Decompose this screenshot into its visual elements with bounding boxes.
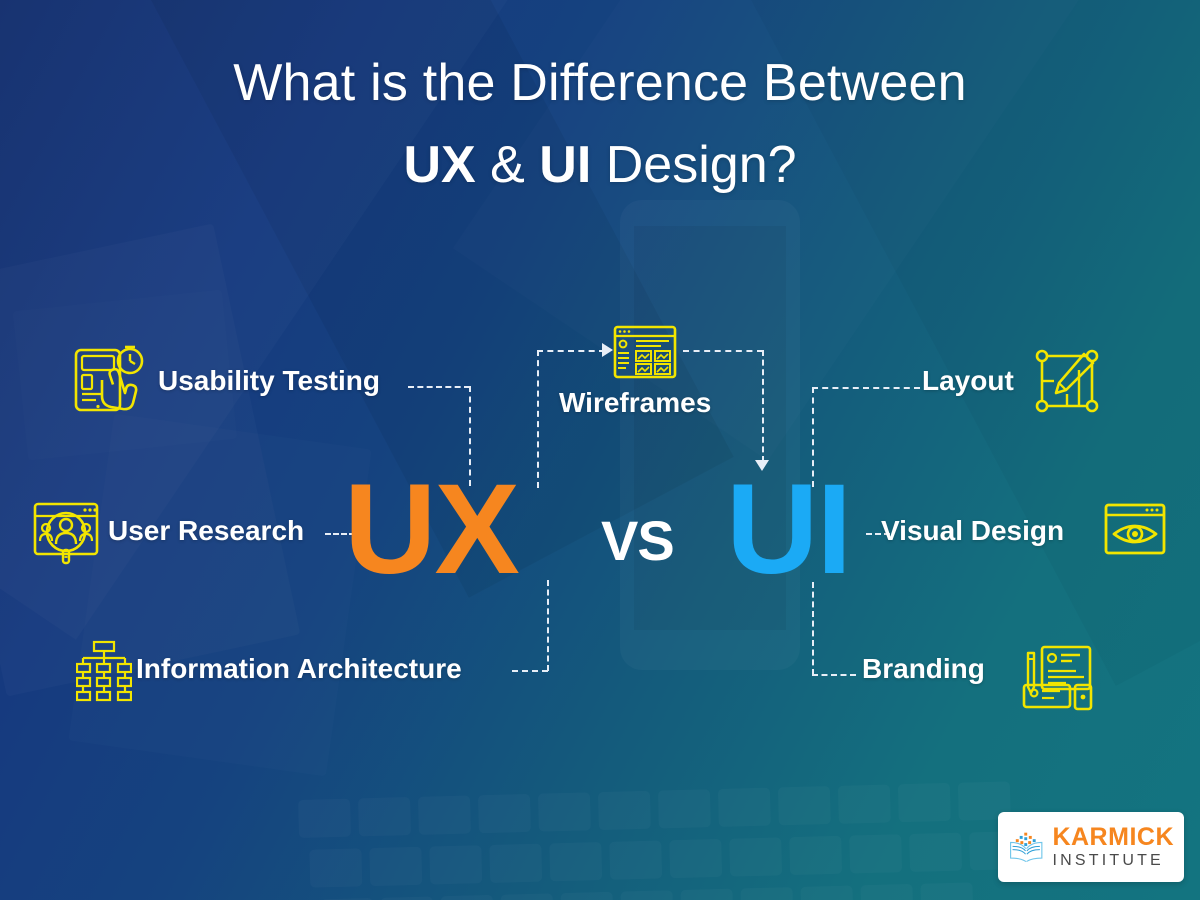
usability-testing-icon-wrap [72,344,148,414]
karmick-institute-logo[interactable]: KARMICK INSTITUTE [998,812,1184,882]
sitemap-hierarchy-icon [76,640,132,702]
user-research-icon-wrap [32,500,104,570]
branding-icon-wrap [1022,641,1094,711]
label-layout: Layout [922,365,1014,397]
browser-wireframe-layout-icon [613,325,677,379]
label-wireframes: Wireframes [559,387,711,419]
background-keyboard [298,780,1062,900]
visual-design-icon-wrap [1104,503,1166,555]
label-visual-design: Visual Design [881,515,1064,547]
tablet-hand-stopwatch-icon [72,344,148,414]
browser-eye-icon [1104,503,1166,555]
browser-people-magnifier-icon [32,500,104,570]
infographic-canvas: What is the Difference Between UX & UI D… [0,0,1200,900]
title-ampersand: & [490,136,525,194]
information-architecture-icon-wrap [76,640,132,702]
logo-subtitle: INSTITUTE [1052,853,1174,869]
ui-headline: UI [726,466,850,594]
label-branding: Branding [862,653,985,685]
logo-name: KARMICK [1052,825,1174,850]
vs-headline: VS [601,508,674,573]
label-user-research: User Research [108,515,304,547]
label-usability-testing: Usability Testing [158,365,380,397]
title-ux: UX [403,136,475,194]
open-book-pixels-logo-icon [1008,823,1044,871]
stationery-card-pen-icon [1022,641,1094,711]
wireframes-icon-wrap [613,325,677,379]
ux-headline: UX [344,466,518,594]
title-line-1: What is the Difference Between [0,54,1200,112]
page-title: What is the Difference Between UX & UI D… [0,54,1200,194]
title-line-2: UX & UI Design? [0,136,1200,194]
title-tail: Design? [606,136,797,194]
layout-icon-wrap [1034,348,1100,414]
label-information-architecture: Information Architecture [136,653,462,685]
pencil-grid-layout-icon [1034,348,1100,414]
title-ui: UI [539,136,591,194]
